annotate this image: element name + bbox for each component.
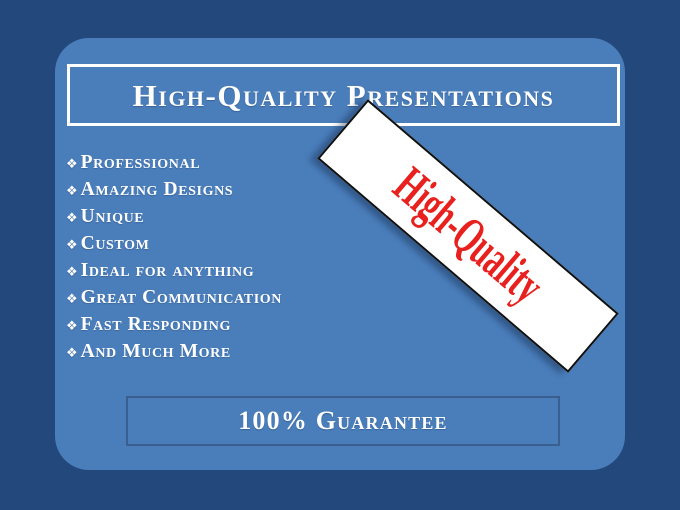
- list-item: ❖ Unique: [66, 206, 346, 233]
- list-item-label: Unique: [81, 206, 145, 228]
- guarantee-banner: 100% Guarantee: [126, 396, 560, 446]
- list-item-label: Ideal for anything: [81, 260, 255, 282]
- title-banner: High-Quality Presentations: [67, 64, 620, 126]
- list-item: ❖ Professional: [66, 152, 346, 179]
- list-item: ❖ Great Communication: [66, 287, 346, 314]
- list-item: ❖ Custom: [66, 233, 346, 260]
- feature-list: ❖ Professional ❖ Amazing Designs ❖ Uniqu…: [66, 152, 346, 368]
- list-item-label: And Much More: [81, 341, 231, 363]
- diamond-bullet-icon: ❖: [66, 158, 78, 171]
- poster-canvas: High-Quality Presentations ❖ Professiona…: [0, 0, 680, 510]
- diamond-bullet-icon: ❖: [66, 320, 78, 333]
- list-item-label: Professional: [81, 152, 200, 174]
- diamond-bullet-icon: ❖: [66, 347, 78, 360]
- diamond-bullet-icon: ❖: [66, 185, 78, 198]
- diamond-bullet-icon: ❖: [66, 239, 78, 252]
- diamond-bullet-icon: ❖: [66, 212, 78, 225]
- list-item: ❖ Amazing Designs: [66, 179, 346, 206]
- list-item-label: Great Communication: [81, 287, 282, 309]
- list-item-label: Fast Responding: [81, 314, 231, 336]
- page-title: High-Quality Presentations: [133, 80, 555, 111]
- diamond-bullet-icon: ❖: [66, 266, 78, 279]
- list-item-label: Custom: [81, 233, 150, 255]
- guarantee-label: 100% Guarantee: [238, 408, 448, 434]
- list-item: ❖ And Much More: [66, 341, 346, 368]
- diamond-bullet-icon: ❖: [66, 293, 78, 306]
- list-item: ❖ Fast Responding: [66, 314, 346, 341]
- list-item: ❖ Ideal for anything: [66, 260, 346, 287]
- list-item-label: Amazing Designs: [81, 179, 234, 201]
